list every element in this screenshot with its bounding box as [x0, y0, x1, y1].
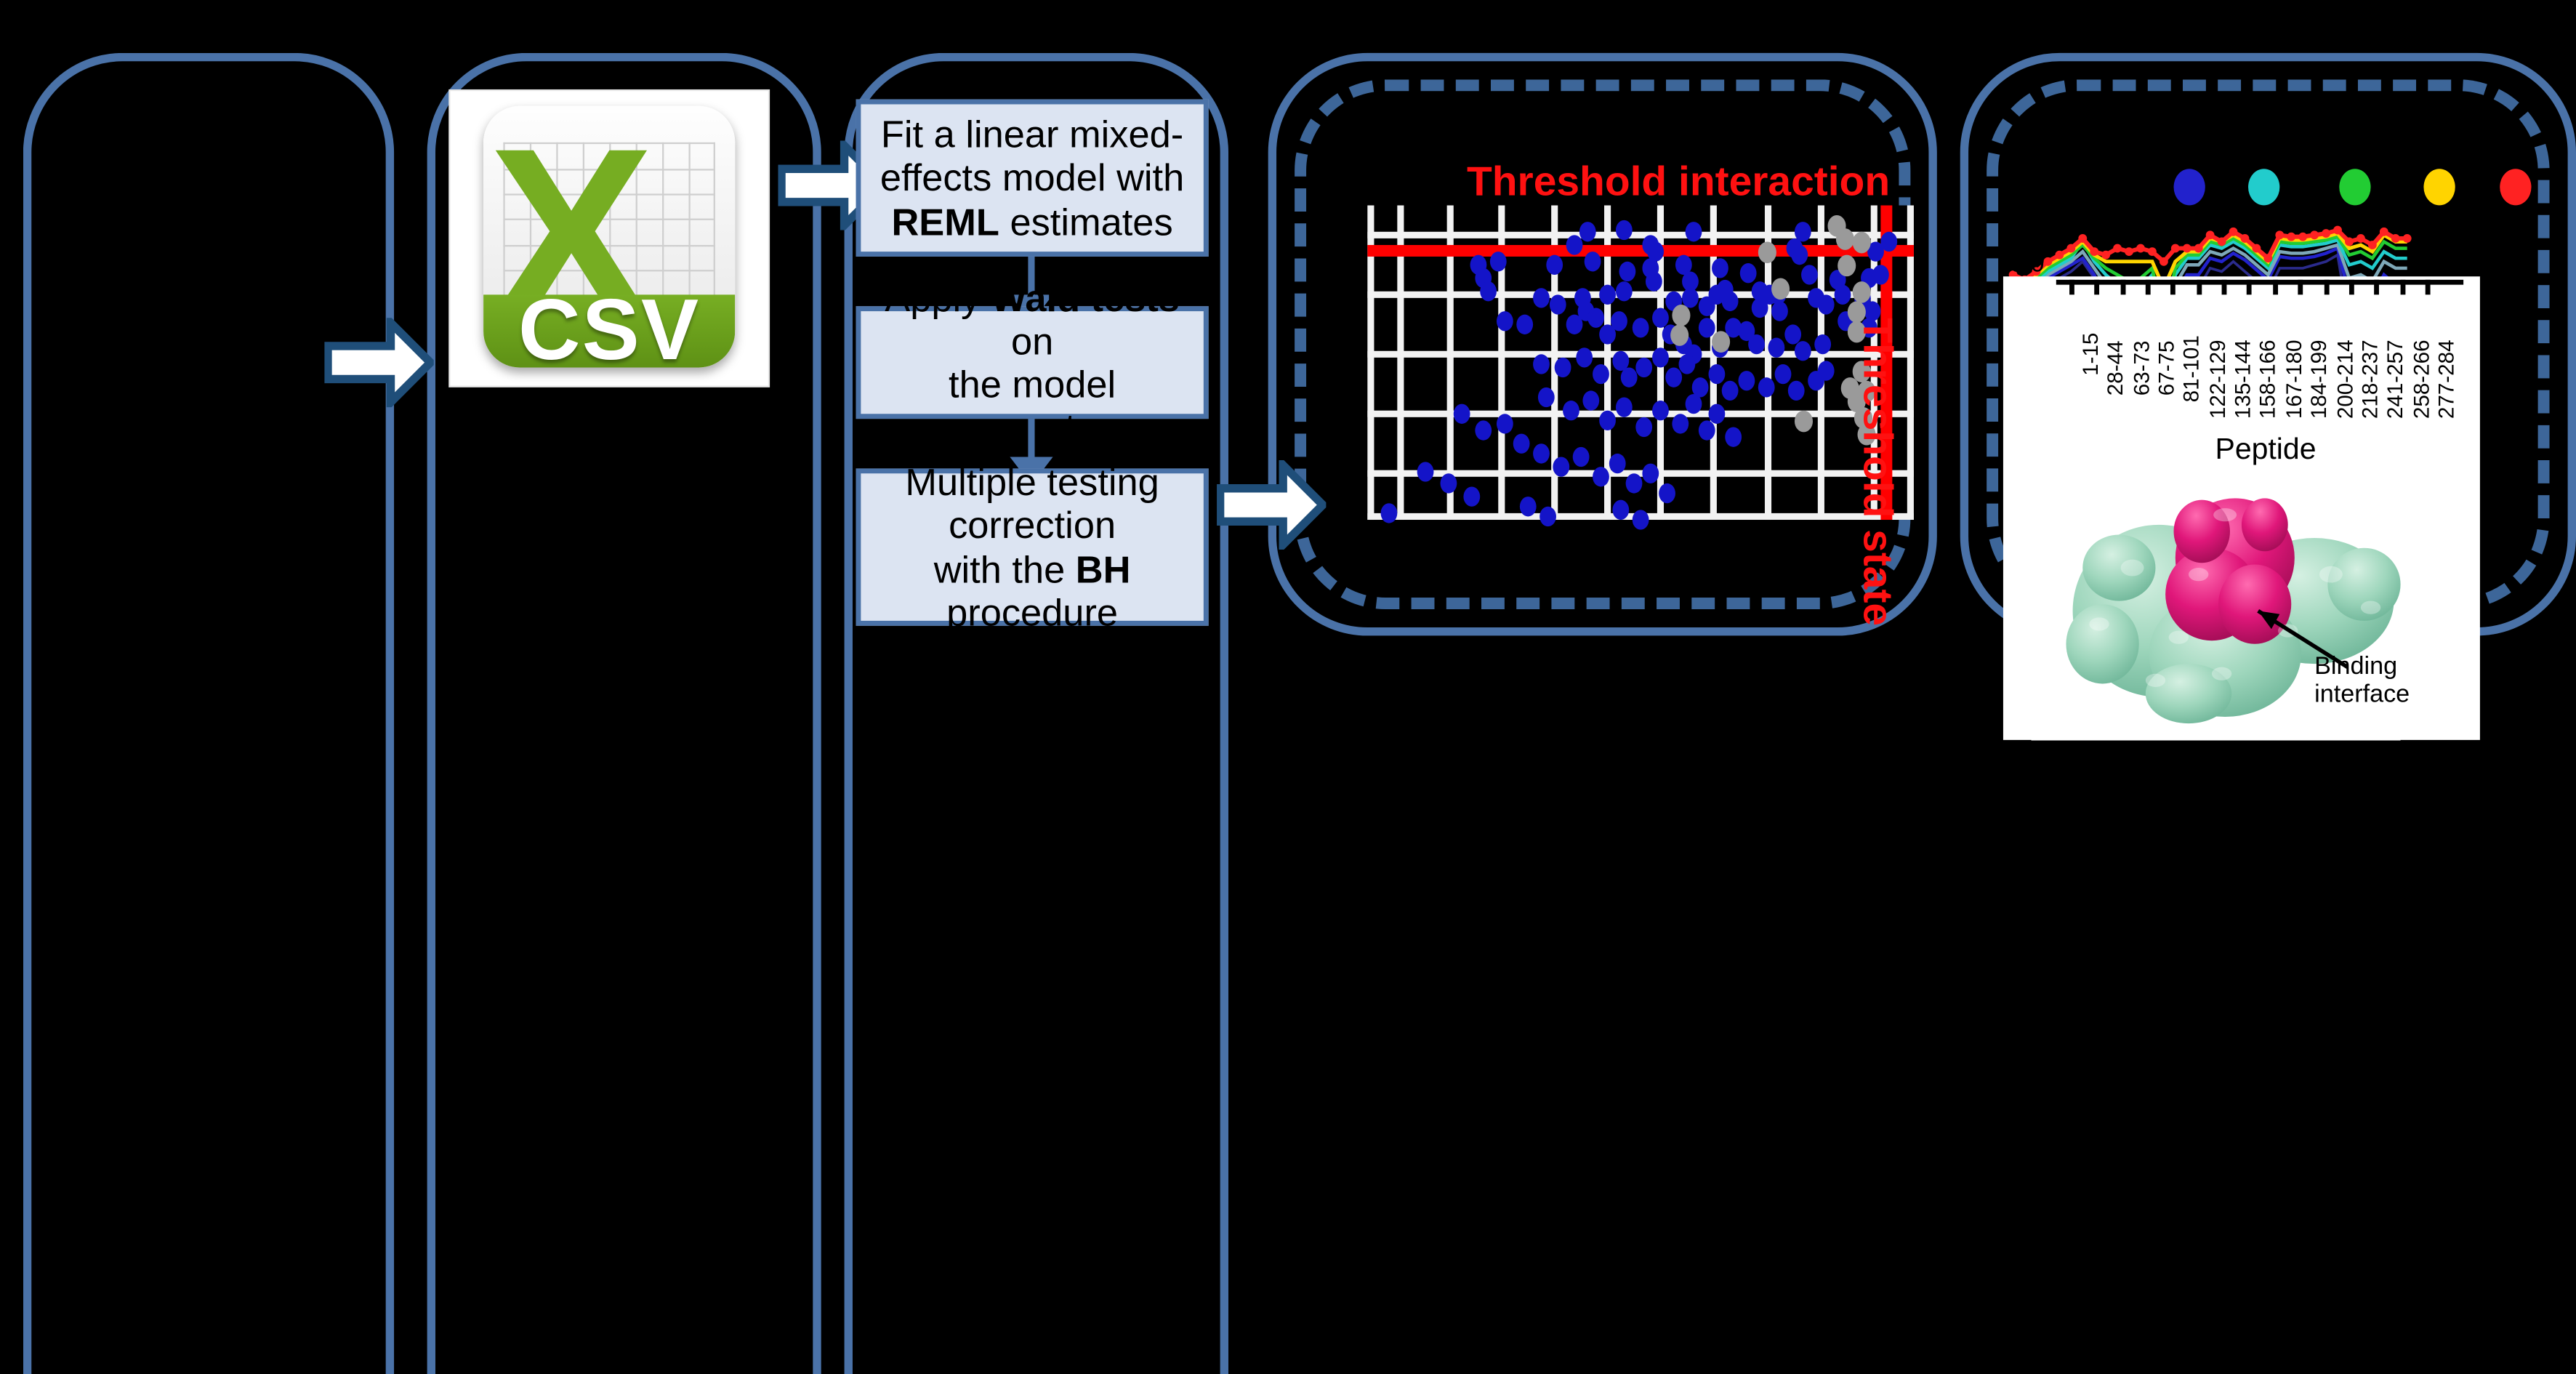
y-tick-zero: 0.0 [2010, 250, 2045, 278]
step-bh-text: Multiple testingcorrectionwith the BH pr… [861, 460, 1203, 634]
step-wald-box[interactable]: Apply Wald tests onthe model parameters [856, 306, 1209, 419]
peptide-tick-label: 63-73 [2129, 341, 2154, 396]
threshold-state-label: Threshold state [1853, 318, 1901, 626]
peptide-tick-label: 1-15 [2077, 333, 2102, 376]
peptide-tick-label: 218-237 [2357, 340, 2382, 419]
step-reml-text: Fit a linear mixed-effects model withREM… [870, 113, 1194, 243]
scatter-title: Threshold interaction [1467, 159, 1890, 207]
legend-dot-red [2500, 169, 2531, 205]
peptide-tick-label: 277-284 [2434, 340, 2458, 419]
peptide-tick-label: 167-180 [2282, 340, 2306, 419]
peptide-tick-label: 28-44 [2103, 341, 2128, 396]
arrow-csv-to-model-icon [1217, 460, 1326, 550]
scatter-plot [1367, 205, 1914, 520]
peptide-axis-title: Peptide [2215, 432, 2316, 467]
legend-dot-blue [2174, 169, 2205, 205]
csv-icon-label: CSV [518, 281, 700, 368]
csv-icon-x-letter: X [488, 111, 594, 263]
legend-dot-cyan [2248, 169, 2279, 205]
legend-dot-green [2339, 169, 2370, 205]
peptide-tick-label: 241-257 [2383, 340, 2407, 419]
csv-file-icon: X CSV [483, 106, 735, 368]
peptide-tick-label: 81-101 [2178, 335, 2203, 402]
peptide-tick-label: 122-129 [2205, 340, 2230, 419]
binding-interface-line2: interface [2314, 680, 2410, 708]
diagram-canvas: X CSV Fit a linear mixed-effects model w… [0, 0, 2576, 687]
step-reml-box[interactable]: Fit a linear mixed-effects model withREM… [856, 100, 1209, 257]
input-stage-box [23, 53, 394, 1374]
threshold-interaction-line [1367, 245, 1914, 257]
arrow-into-input-icon [324, 318, 433, 407]
peptide-tick-label: 184-199 [2306, 340, 2331, 419]
binding-interface-line1: Binding [2314, 652, 2397, 680]
csv-icon-band: CSV [483, 294, 735, 368]
legend-dot-yellow [2423, 169, 2455, 205]
step-bh-box[interactable]: Multiple testingcorrectionwith the BH pr… [856, 468, 1209, 625]
peptide-axis-card: 0.0 1-15 28-44 63-73 67-75 81-101 122-12… [2003, 276, 2480, 740]
peptide-tick-label: 135-144 [2230, 340, 2255, 419]
binding-interface-label: Binding interface [2314, 654, 2410, 709]
peptide-tick-label: 200-214 [2333, 340, 2357, 419]
peptide-tick-label: 258-266 [2409, 340, 2434, 419]
peptide-tick-label: 158-166 [2255, 340, 2279, 419]
peptide-tick-label: 67-75 [2154, 341, 2178, 396]
